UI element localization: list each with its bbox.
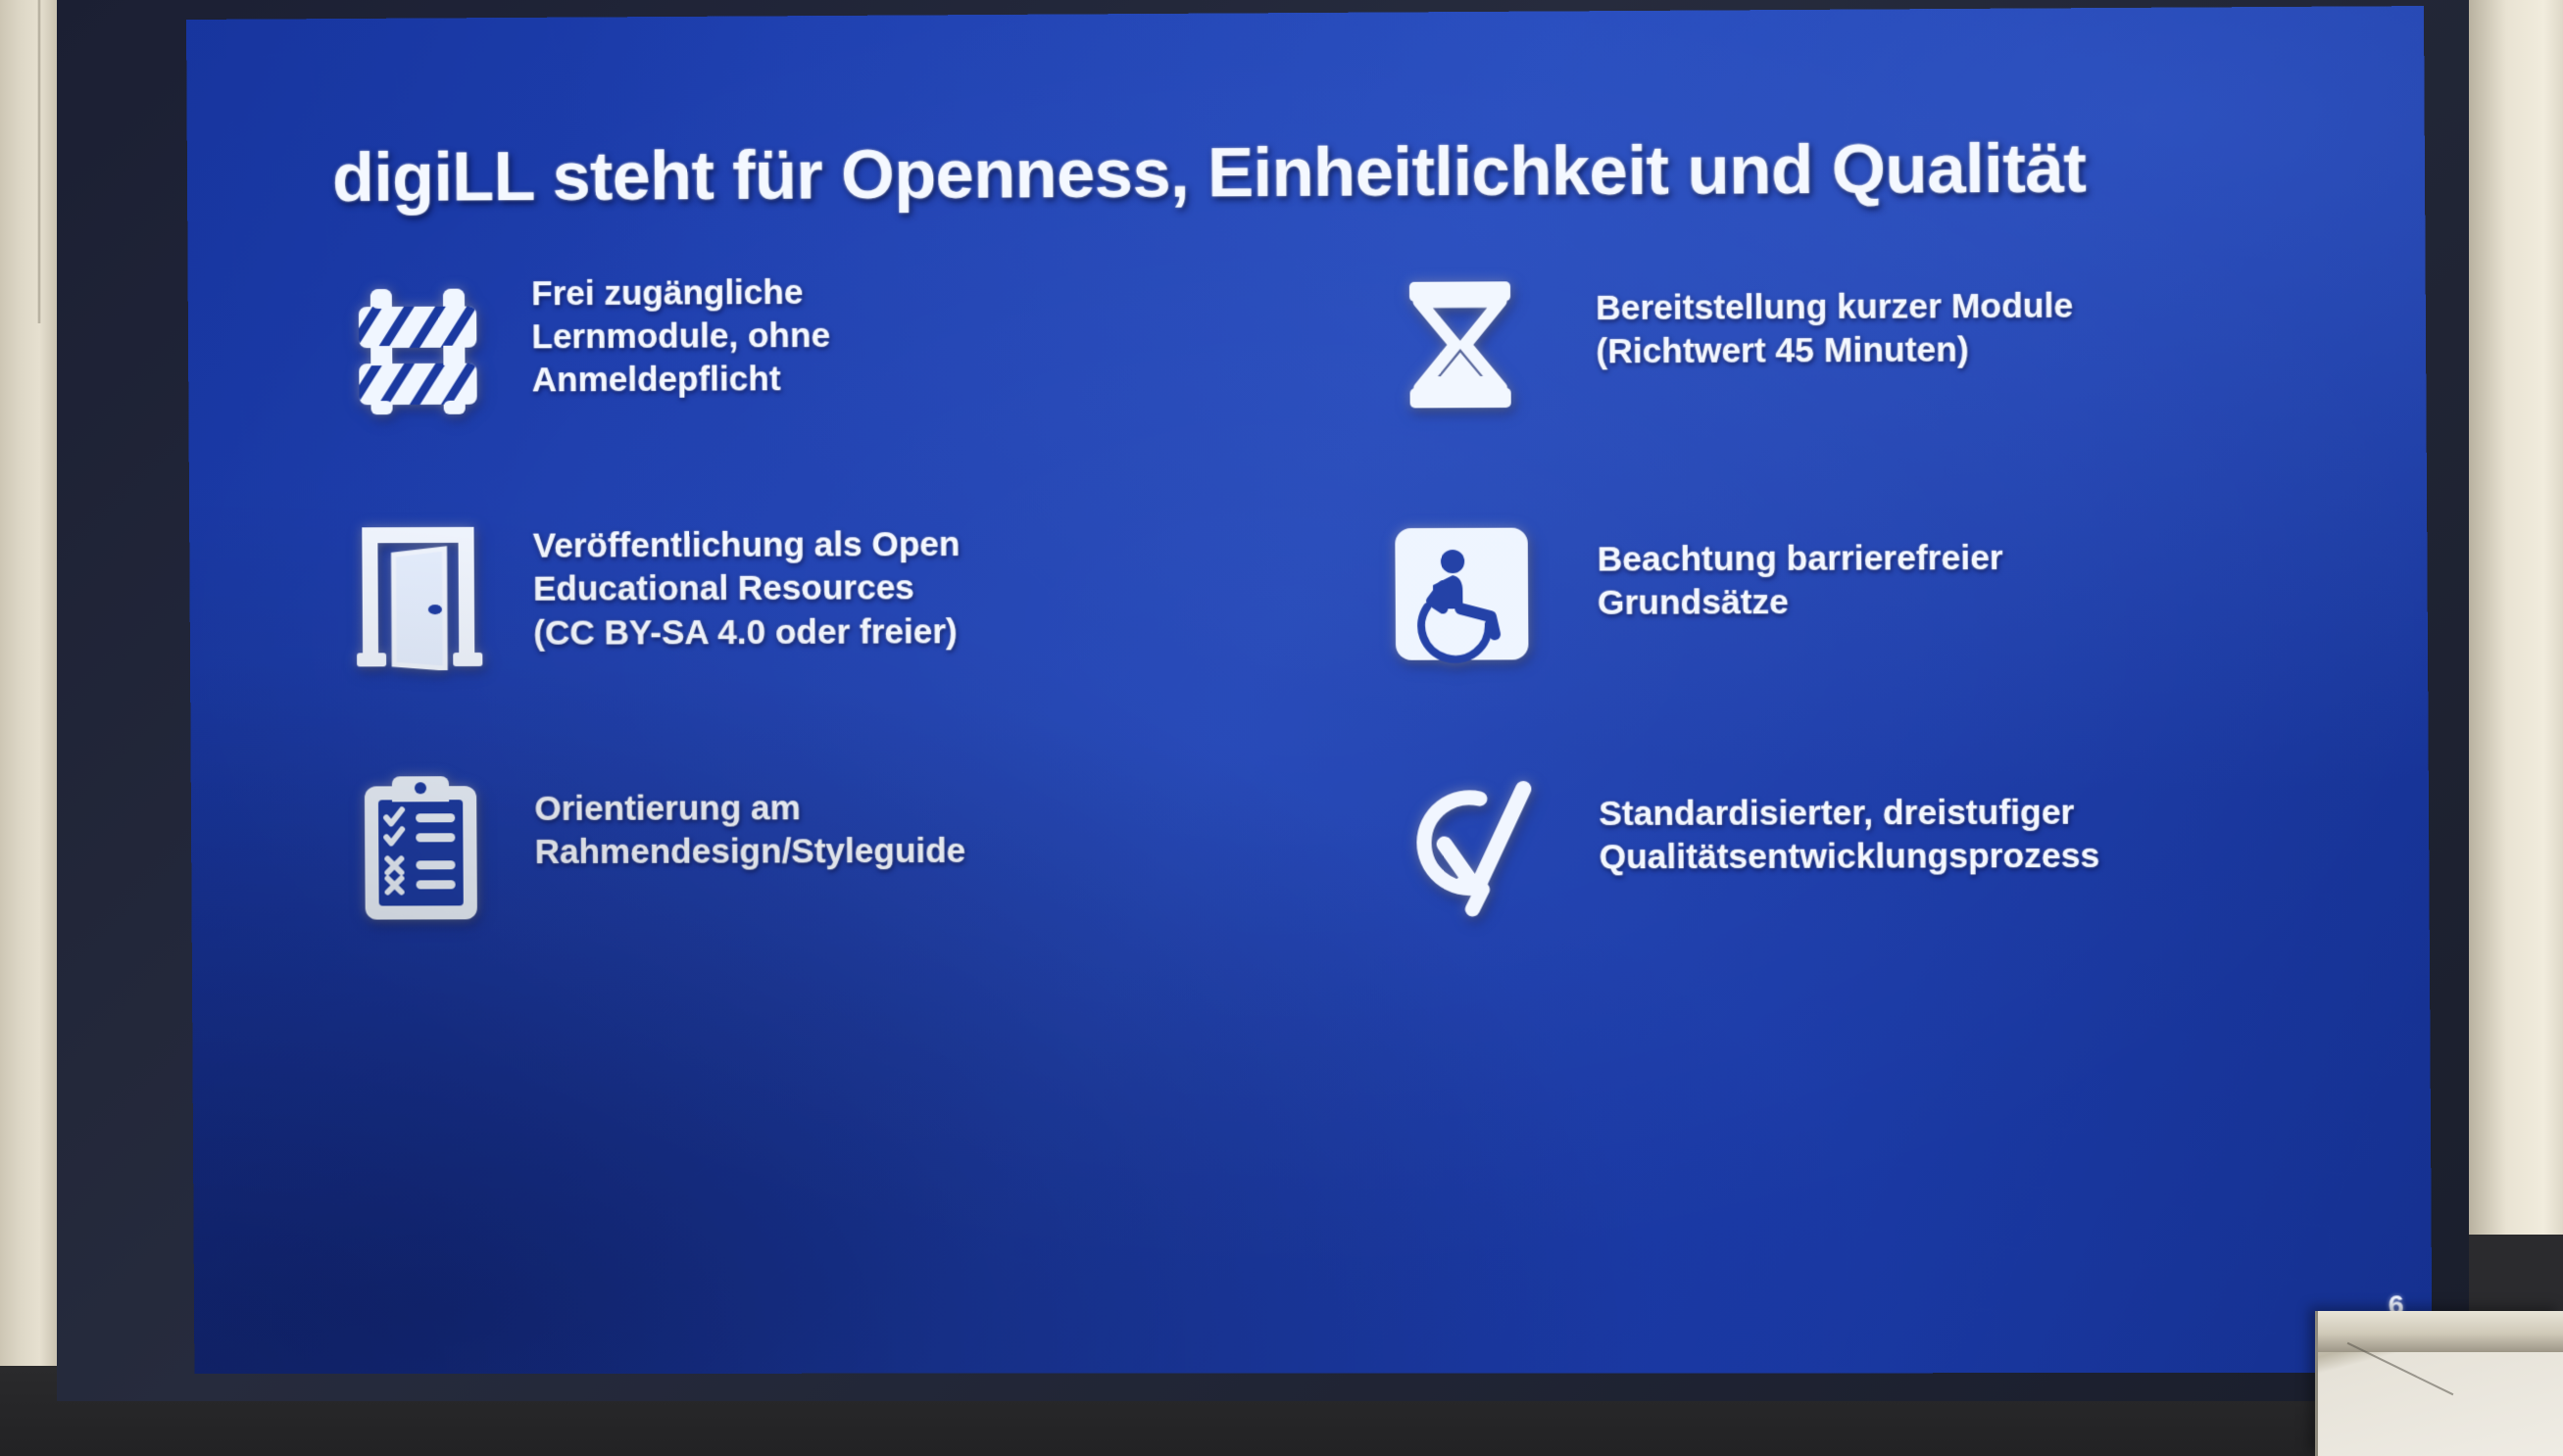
feature-item-text: Orientierung am Rahmendesign/Styleguide: [534, 746, 1294, 874]
wall-seam: [37, 0, 41, 323]
feature-grid: Frei zugängliche Lernmodule, ohne Anmeld…: [303, 242, 2336, 997]
feature-item-bereitstellung-kurzer-module: Bereitstellung kurzer Module (Richtwert …: [1336, 242, 2333, 497]
feature-line: Frei zugängliche: [531, 268, 1291, 315]
feature-line: Veröffentlichung als Open: [533, 522, 1293, 568]
feature-line: (Richtwert 45 Minuten): [1596, 327, 2332, 374]
feature-line: Lernmodule, ohne: [531, 313, 1291, 360]
feature-line: Educational Resources: [533, 565, 1293, 611]
feature-line: Anmeldepflicht: [532, 356, 1292, 403]
page-title: digiLL steht für Openness, Einheitlichke…: [332, 127, 2272, 217]
feature-item-veroeffentlichung-als-oer: Veröffentlichung als Open Educational Re…: [305, 497, 1294, 750]
wheelchair-accessibility-icon: [1338, 495, 1587, 693]
feature-line: Standardisierter, dreistufiger: [1599, 790, 2335, 835]
feature-item-text: Standardisierter, dreistufiger Qualitäts…: [1587, 743, 2336, 879]
wall-right: [2469, 0, 2563, 1235]
feature-line: Bereitstellung kurzer Module: [1596, 283, 2332, 330]
feature-item-frei-zugaengliche-lernmodule: Frei zugängliche Lernmodule, ohne Anmeld…: [303, 247, 1292, 501]
presentation-slide: digiLL steht für Openness, Einheitlichke…: [186, 6, 2433, 1374]
feature-item-beachtung-barrierefreier-grundsaetze: Beachtung barrierefreier Grundsätze: [1338, 492, 2335, 746]
feature-line: Qualitätsentwicklungsprozess: [1599, 834, 2335, 879]
flipchart-easel: [2315, 1311, 2563, 1456]
cycle-checkmark-icon: [1339, 745, 1588, 943]
feature-item-text: Bereitstellung kurzer Module (Richtwert …: [1584, 242, 2333, 374]
feature-line: Orientierung am: [534, 785, 1294, 830]
clipboard-checklist-icon: [307, 749, 536, 946]
photo-of-projection-screen: digiLL steht für Openness, Einheitlichke…: [0, 0, 2563, 1456]
barricade-icon: [303, 251, 532, 448]
feature-item-text: Frei zugängliche Lernmodule, ohne Anmeld…: [531, 247, 1292, 402]
projection-screen-frame: digiLL steht für Openness, Einheitlichke…: [57, 0, 2469, 1401]
feature-line: (CC BY-SA 4.0 oder freier): [533, 608, 1293, 655]
feature-item-text: Beachtung barrierefreier Grundsätze: [1585, 492, 2334, 625]
open-door-icon: [305, 500, 534, 697]
feature-line: Beachtung barrierefreier: [1598, 536, 2334, 582]
feature-item-text: Veröffentlichung als Open Educational Re…: [532, 497, 1293, 655]
feature-item-standardisierter-qualitaetsprozess: Standardisierter, dreistufiger Qualitäts…: [1339, 743, 2336, 995]
wall-left: [0, 0, 57, 1456]
feature-item-orientierung-am-rahmendesign: Orientierung am Rahmendesign/Styleguide: [307, 746, 1296, 997]
feature-line: Rahmendesign/Styleguide: [535, 829, 1295, 874]
feature-line: Grundsätze: [1598, 579, 2334, 625]
hourglass-icon: [1336, 246, 1585, 444]
